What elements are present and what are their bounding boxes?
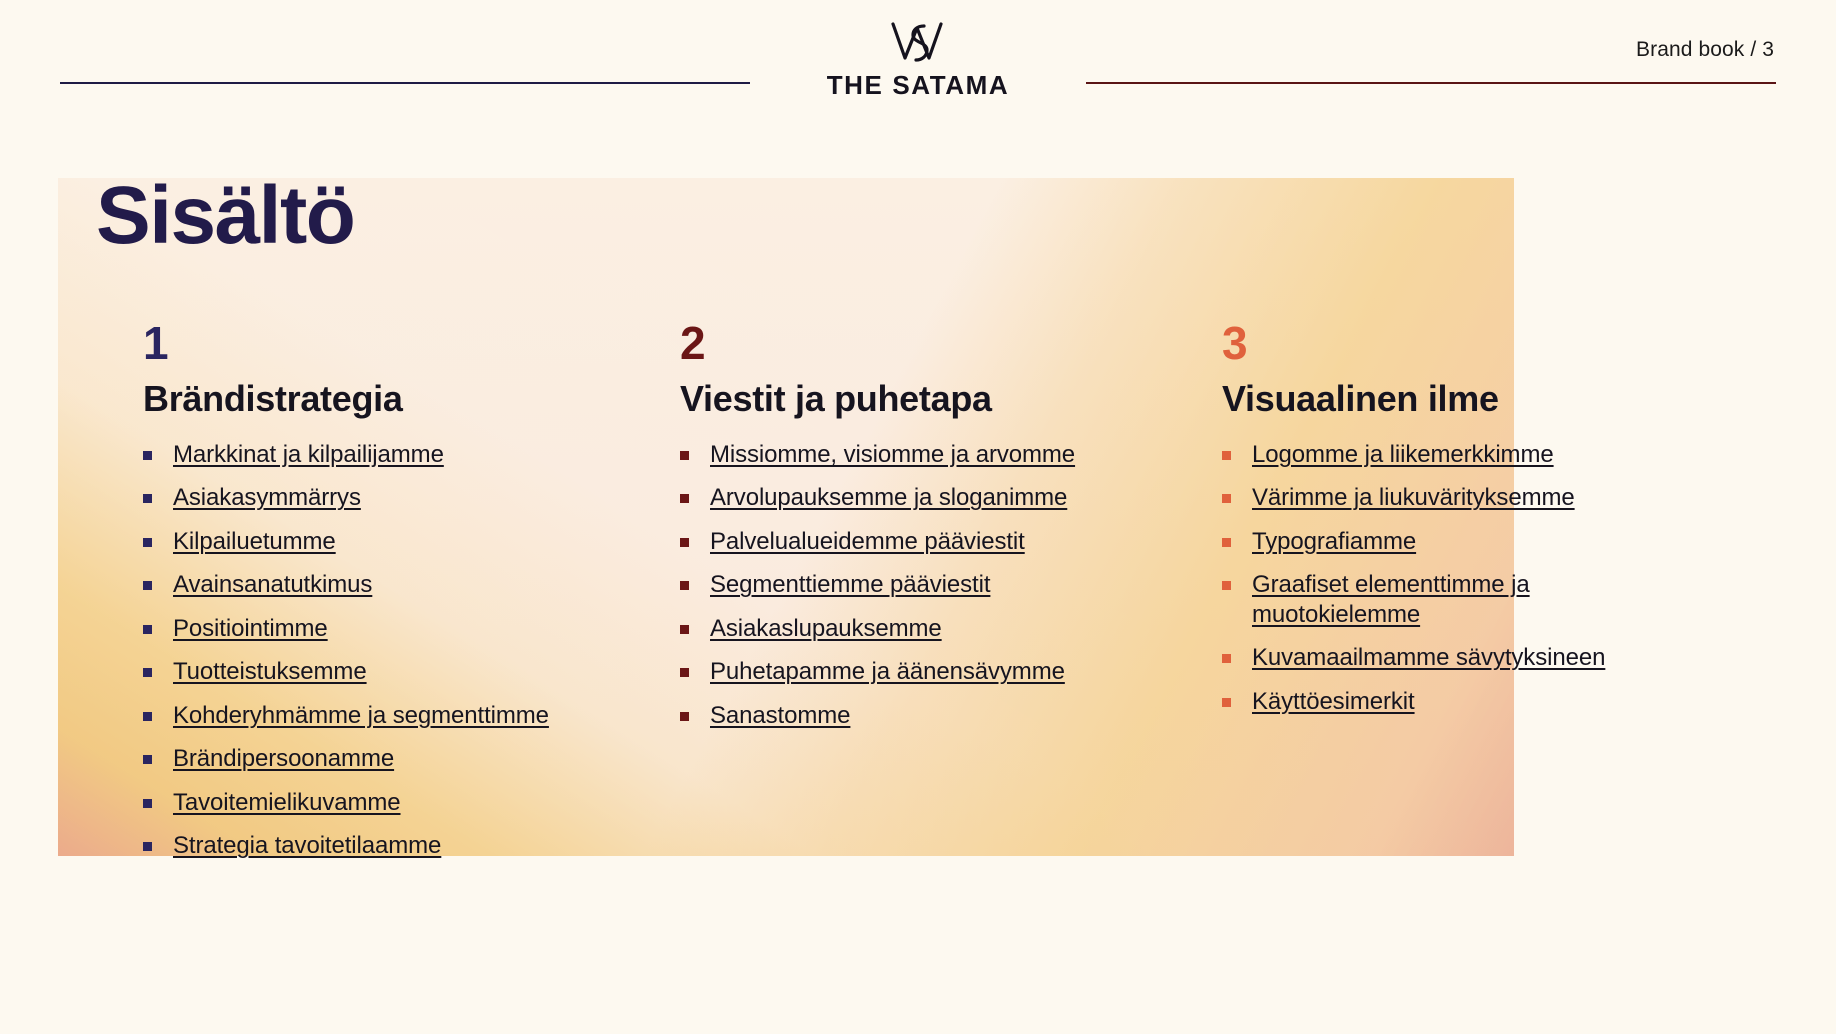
toc-link[interactable]: Segmenttiemme pääviestit <box>710 570 990 600</box>
square-bullet-icon <box>1222 538 1231 547</box>
toc-link[interactable]: Värimme ja liukuvärityksemme <box>1252 483 1575 513</box>
list-item[interactable]: Palvelualueidemme pääviestit <box>680 527 1100 557</box>
list-item[interactable]: Typografiamme <box>1222 527 1652 557</box>
column-heading: Brändistrategia <box>143 380 563 418</box>
toc-link[interactable]: Asiakasymmärrys <box>173 483 361 513</box>
square-bullet-icon <box>143 842 152 851</box>
square-bullet-icon <box>143 668 152 677</box>
list-item[interactable]: Missiomme, visiomme ja arvomme <box>680 440 1100 470</box>
column-2-list: Missiomme, visiomme ja arvomme Arvolupau… <box>680 440 1100 731</box>
square-bullet-icon <box>680 668 689 677</box>
column-3: 3 Visuaalinen ilme Logomme ja liikemerkk… <box>1222 320 1652 730</box>
square-bullet-icon <box>1222 698 1231 707</box>
toc-link[interactable]: Missiomme, visiomme ja arvomme <box>710 440 1075 470</box>
list-item[interactable]: Värimme ja liukuvärityksemme <box>1222 483 1652 513</box>
list-item[interactable]: Tuotteistuksemme <box>143 657 563 687</box>
toc-link[interactable]: Kuvamaailmamme sävytyksineen <box>1252 643 1605 673</box>
square-bullet-icon <box>680 625 689 634</box>
square-bullet-icon <box>143 494 152 503</box>
square-bullet-icon <box>143 581 152 590</box>
column-3-list: Logomme ja liikemerkkimme Värimme ja liu… <box>1222 440 1652 717</box>
toc-link[interactable]: Tuotteistuksemme <box>173 657 367 687</box>
toc-link[interactable]: Sanastomme <box>710 701 850 731</box>
list-item[interactable]: Kuvamaailmamme sävytyksineen <box>1222 643 1652 673</box>
list-item[interactable]: Brändipersoonamme <box>143 744 563 774</box>
toc-link[interactable]: Palvelualueidemme pääviestit <box>710 527 1025 557</box>
list-item[interactable]: Arvolupauksemme ja sloganimme <box>680 483 1100 513</box>
toc-link[interactable]: Strategia tavoitetilaamme <box>173 831 441 861</box>
square-bullet-icon <box>143 712 152 721</box>
toc-link[interactable]: Graafiset elementtimme ja muotokielemme <box>1252 570 1652 629</box>
list-item[interactable]: Käyttöesimerkit <box>1222 687 1652 717</box>
toc-link[interactable]: Typografiamme <box>1252 527 1416 557</box>
list-item[interactable]: Tavoitemielikuvamme <box>143 788 563 818</box>
square-bullet-icon <box>1222 581 1231 590</box>
list-item[interactable]: Kohderyhmämme ja segmenttimme <box>143 701 563 731</box>
toc-link[interactable]: Logomme ja liikemerkkimme <box>1252 440 1554 470</box>
toc-link[interactable]: Avainsanatutkimus <box>173 570 372 600</box>
square-bullet-icon <box>1222 451 1231 460</box>
column-1-list: Markkinat ja kilpailijamme Asiakasymmärr… <box>143 440 563 861</box>
list-item[interactable]: Strategia tavoitetilaamme <box>143 831 563 861</box>
toc-link[interactable]: Tavoitemielikuvamme <box>173 788 401 818</box>
column-heading: Viestit ja puhetapa <box>680 380 1100 418</box>
square-bullet-icon <box>680 494 689 503</box>
toc-link[interactable]: Puhetapamme ja äänensävymme <box>710 657 1065 687</box>
square-bullet-icon <box>143 625 152 634</box>
column-1: 1 Brändistrategia Markkinat ja kilpailij… <box>143 320 563 875</box>
list-item[interactable]: Avainsanatutkimus <box>143 570 563 600</box>
square-bullet-icon <box>1222 654 1231 663</box>
toc-link[interactable]: Asiakaslupauksemme <box>710 614 942 644</box>
square-bullet-icon <box>143 799 152 808</box>
square-bullet-icon <box>680 712 689 721</box>
toc-link[interactable]: Brändipersoonamme <box>173 744 394 774</box>
square-bullet-icon <box>143 451 152 460</box>
list-item[interactable]: Segmenttiemme pääviestit <box>680 570 1100 600</box>
column-number: 1 <box>143 320 563 366</box>
toc-link[interactable]: Positiointimme <box>173 614 328 644</box>
toc-link[interactable]: Markkinat ja kilpailijamme <box>173 440 444 470</box>
toc-link[interactable]: Kohderyhmämme ja segmenttimme <box>173 701 549 731</box>
square-bullet-icon <box>680 538 689 547</box>
page-title: Sisältö <box>96 175 354 257</box>
list-item[interactable]: Kilpailuetumme <box>143 527 563 557</box>
column-number: 3 <box>1222 320 1652 366</box>
square-bullet-icon <box>143 538 152 547</box>
slide-root: THE SATAMA Brand book / 3 Sisältö 1 Brän… <box>0 0 1836 1034</box>
square-bullet-icon <box>143 755 152 764</box>
list-item[interactable]: Asiakaslupauksemme <box>680 614 1100 644</box>
square-bullet-icon <box>1222 494 1231 503</box>
list-item[interactable]: Asiakasymmärrys <box>143 483 563 513</box>
toc-link[interactable]: Käyttöesimerkit <box>1252 687 1415 717</box>
list-item[interactable]: Logomme ja liikemerkkimme <box>1222 440 1652 470</box>
toc-link[interactable]: Kilpailuetumme <box>173 527 336 557</box>
list-item[interactable]: Graafiset elementtimme ja muotokielemme <box>1222 570 1652 629</box>
list-item[interactable]: Puhetapamme ja äänensävymme <box>680 657 1100 687</box>
column-heading: Visuaalinen ilme <box>1222 380 1652 418</box>
square-bullet-icon <box>680 581 689 590</box>
list-item[interactable]: Markkinat ja kilpailijamme <box>143 440 563 470</box>
toc-link[interactable]: Arvolupauksemme ja sloganimme <box>710 483 1067 513</box>
list-item[interactable]: Positiointimme <box>143 614 563 644</box>
square-bullet-icon <box>680 451 689 460</box>
list-item[interactable]: Sanastomme <box>680 701 1100 731</box>
column-2: 2 Viestit ja puhetapa Missiomme, visiomm… <box>680 320 1100 744</box>
content-columns: 1 Brändistrategia Markkinat ja kilpailij… <box>0 0 1836 1034</box>
column-number: 2 <box>680 320 1100 366</box>
